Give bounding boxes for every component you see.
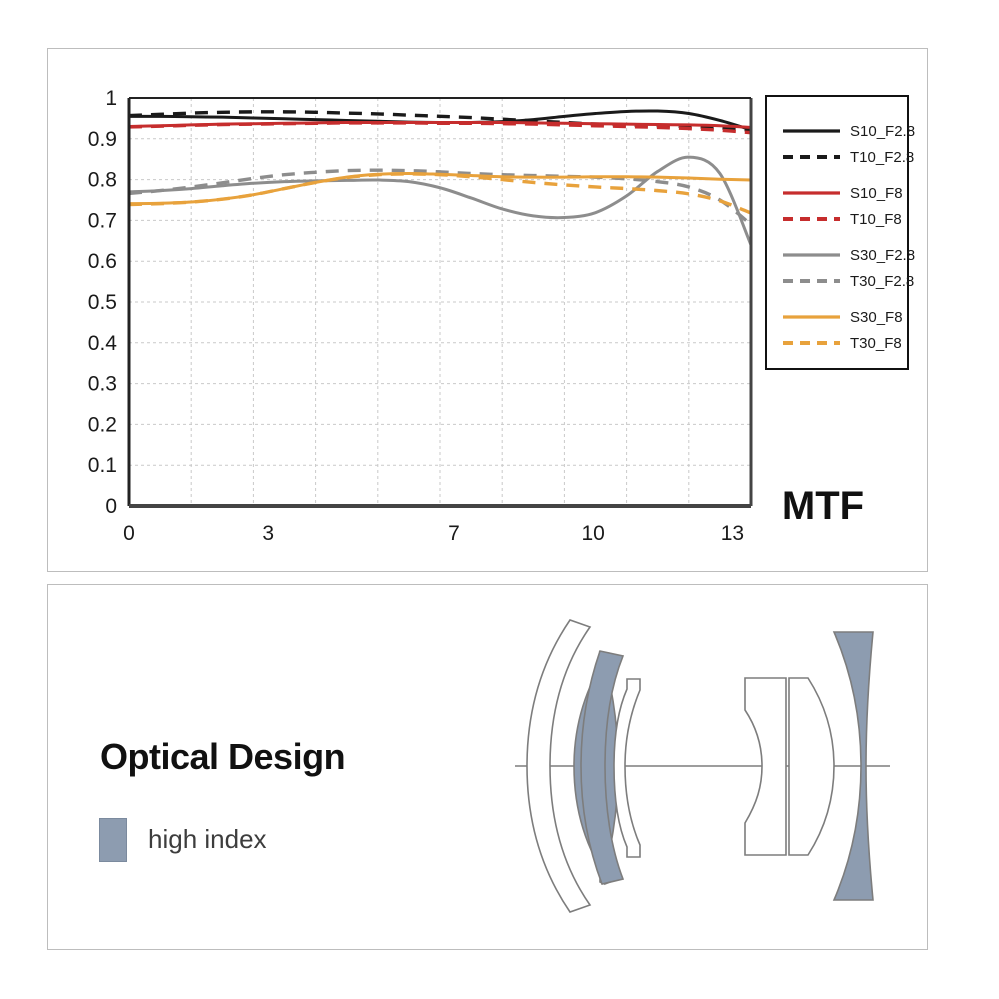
y-tick-0.1: 0.1 (88, 454, 117, 477)
x-tick-3: 3 (262, 522, 274, 545)
y-tick-1: 1 (105, 87, 117, 110)
y-tick-0.5: 0.5 (88, 291, 117, 314)
legend-label-t30-f8: T30_F8 (850, 335, 902, 352)
optical-design-title: Optical Design (100, 736, 345, 778)
high-index-swatch (99, 818, 127, 862)
y-axis-tick-labels: 00.10.20.30.40.50.60.70.80.91 (88, 87, 118, 518)
y-tick-0.4: 0.4 (88, 332, 118, 355)
x-tick-13: 13 (721, 522, 744, 545)
y-tick-0.6: 0.6 (88, 250, 117, 273)
mtf-chart-panel: 00.10.20.30.40.50.60.70.80.91 0371013 S1… (47, 48, 928, 572)
y-tick-0.7: 0.7 (88, 209, 117, 232)
legend-label-t10-f8: T10_F8 (850, 211, 902, 228)
chart-gridlines (129, 98, 751, 506)
x-tick-10: 10 (581, 522, 604, 545)
y-tick-0.8: 0.8 (88, 169, 117, 192)
mtf-chart-svg: 00.10.20.30.40.50.60.70.80.91 0371013 S1… (48, 49, 927, 571)
chart-legend: S10_F2.8T10_F2.8S10_F8T10_F8S30_F2.8T30_… (766, 96, 915, 369)
legend-label-s30-f2-8: S30_F2.8 (850, 247, 915, 264)
high-index-label: high index (148, 824, 267, 855)
legend-label-s10-f8: S10_F8 (850, 185, 903, 202)
x-axis-tick-labels: 0371013 (123, 522, 744, 545)
y-tick-0.9: 0.9 (88, 128, 117, 151)
legend-label-t10-f2-8: T10_F2.8 (850, 149, 914, 166)
x-tick-7: 7 (448, 522, 460, 545)
legend-label-s30-f8: S30_F8 (850, 309, 903, 326)
y-tick-0.2: 0.2 (88, 413, 117, 436)
y-tick-0: 0 (105, 495, 117, 518)
legend-label-s10-f2-8: S10_F2.8 (850, 123, 915, 140)
mtf-title: MTF (782, 484, 864, 528)
y-tick-0.3: 0.3 (88, 373, 117, 396)
x-tick-0: 0 (123, 522, 135, 545)
legend-label-t30-f2-8: T30_F2.8 (850, 273, 914, 290)
